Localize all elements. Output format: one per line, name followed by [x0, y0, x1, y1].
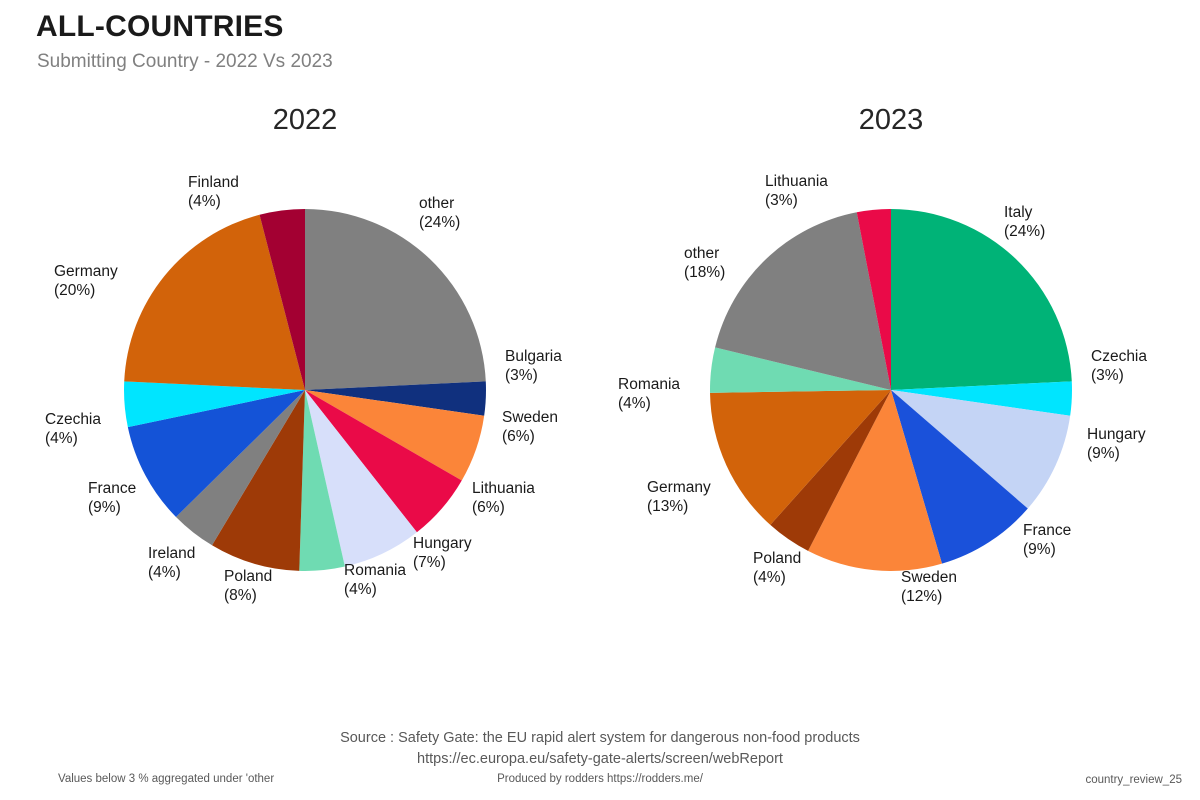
slice-label-name: other — [419, 194, 460, 213]
slice-label-percent: (4%) — [188, 192, 239, 211]
slice-label-france: France(9%) — [1023, 521, 1071, 559]
slice-label-percent: (4%) — [753, 568, 801, 587]
slice-label-hungary: Hungary(7%) — [413, 534, 472, 572]
slice-label-sweden: Sweden(6%) — [502, 408, 558, 446]
slice-label-name: Sweden — [502, 408, 558, 427]
slice-label-name: Germany — [647, 478, 711, 497]
pie-2023 — [710, 209, 1072, 571]
slice-label-name: Italy — [1004, 203, 1045, 222]
slice-label-romania: Romania(4%) — [344, 561, 406, 599]
slice-label-other: other(18%) — [684, 244, 725, 282]
slice-label-hungary: Hungary(9%) — [1087, 425, 1146, 463]
pie-slice-other[interactable] — [305, 209, 486, 390]
slice-label-percent: (4%) — [618, 394, 680, 413]
slice-label-bulgaria: Bulgaria(3%) — [505, 347, 562, 385]
slice-label-finland: Finland(4%) — [188, 173, 239, 211]
slice-label-name: Lithuania — [765, 172, 828, 191]
slice-label-poland: Poland(4%) — [753, 549, 801, 587]
slice-label-percent: (24%) — [1004, 222, 1045, 241]
slice-label-germany: Germany(13%) — [647, 478, 711, 516]
slice-label-name: Romania — [618, 375, 680, 394]
slice-label-percent: (20%) — [54, 281, 118, 300]
slice-label-percent: (4%) — [148, 563, 195, 582]
slice-label-name: Ireland — [148, 544, 195, 563]
slice-label-percent: (8%) — [224, 586, 272, 605]
slice-label-lithuania: Lithuania(6%) — [472, 479, 535, 517]
slice-label-poland: Poland(8%) — [224, 567, 272, 605]
charts-canvas — [0, 0, 1200, 800]
slice-label-italy: Italy(24%) — [1004, 203, 1045, 241]
slice-label-name: Germany — [54, 262, 118, 281]
slice-label-percent: (4%) — [45, 429, 101, 448]
slice-label-ireland: Ireland(4%) — [148, 544, 195, 582]
slice-label-percent: (9%) — [1023, 540, 1071, 559]
slice-label-name: Hungary — [413, 534, 472, 553]
slice-label-percent: (3%) — [765, 191, 828, 210]
slice-label-czechia: Czechia(4%) — [45, 410, 101, 448]
slice-label-percent: (18%) — [684, 263, 725, 282]
slice-label-name: Poland — [753, 549, 801, 568]
slice-label-name: Romania — [344, 561, 406, 580]
slice-label-percent: (9%) — [88, 498, 136, 517]
slice-label-percent: (13%) — [647, 497, 711, 516]
slice-label-name: Bulgaria — [505, 347, 562, 366]
slice-label-lithuania: Lithuania(3%) — [765, 172, 828, 210]
source-note-line-2[interactable]: https://ec.europa.eu/safety-gate-alerts/… — [0, 749, 1200, 770]
slice-label-name: Sweden — [901, 568, 957, 587]
slice-label-percent: (6%) — [472, 498, 535, 517]
slice-label-france: France(9%) — [88, 479, 136, 517]
page-title: ALL-COUNTRIES — [36, 10, 284, 44]
slice-label-percent: (9%) — [1087, 444, 1146, 463]
slice-label-percent: (6%) — [502, 427, 558, 446]
pie-2022 — [124, 209, 486, 571]
slice-label-percent: (7%) — [413, 553, 472, 572]
source-note: Source : Safety Gate: the EU rapid alert… — [0, 728, 1200, 770]
slice-label-other: other(24%) — [419, 194, 460, 232]
slice-label-name: Czechia — [1091, 347, 1147, 366]
slice-label-romania: Romania(4%) — [618, 375, 680, 413]
slice-label-germany: Germany(20%) — [54, 262, 118, 300]
slice-label-name: Hungary — [1087, 425, 1146, 444]
panel-title-2023: 2023 — [791, 104, 991, 137]
panel-title-2022: 2022 — [205, 104, 405, 137]
page-subtitle: Submitting Country - 2022 Vs 2023 — [37, 51, 333, 73]
slice-label-name: Lithuania — [472, 479, 535, 498]
slice-label-czechia: Czechia(3%) — [1091, 347, 1147, 385]
slice-label-percent: (3%) — [1091, 366, 1147, 385]
slice-label-name: France — [1023, 521, 1071, 540]
footnote-report-id: country_review_25 — [1085, 774, 1182, 786]
pie-charts-svg — [0, 0, 1200, 800]
source-note-line-1: Source : Safety Gate: the EU rapid alert… — [0, 728, 1200, 749]
slice-label-percent: (4%) — [344, 580, 406, 599]
slice-label-name: France — [88, 479, 136, 498]
slice-label-name: Poland — [224, 567, 272, 586]
slice-label-name: other — [684, 244, 725, 263]
slice-label-percent: (24%) — [419, 213, 460, 232]
slice-label-sweden: Sweden(12%) — [901, 568, 957, 606]
footnote-producer[interactable]: Produced by rodders https://rodders.me/ — [0, 773, 1200, 785]
slice-label-percent: (12%) — [901, 587, 957, 606]
slice-label-name: Finland — [188, 173, 239, 192]
slice-label-percent: (3%) — [505, 366, 562, 385]
slice-label-name: Czechia — [45, 410, 101, 429]
